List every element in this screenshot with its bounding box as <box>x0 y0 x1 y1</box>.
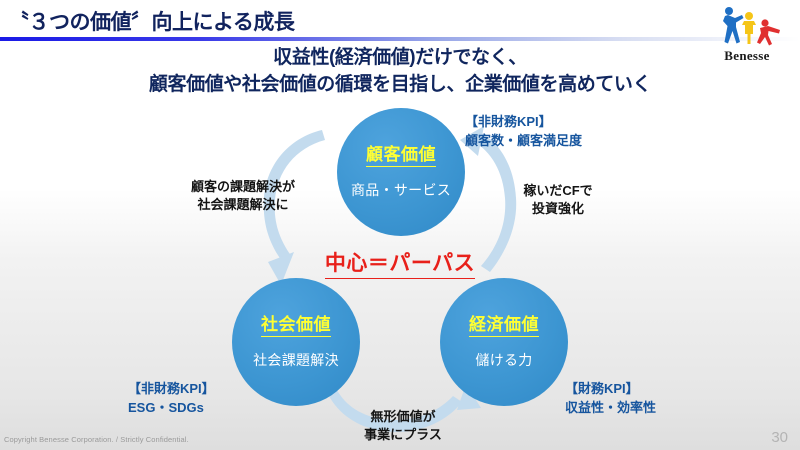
kpi-economic-value: 【財務KPI】 収益性・効率性 <box>565 379 745 417</box>
circle-economic-value[interactable]: 経済価値 儲ける力 <box>440 278 568 406</box>
center-purpose-block: 中心＝パーパス <box>0 247 800 279</box>
page-number: 30 <box>771 429 788 446</box>
circle-social-value-title: 社会価値 <box>261 315 331 337</box>
circle-customer-value-title: 顧客価値 <box>366 145 436 167</box>
annotation-social-to-economic-line-1: 無形価値が <box>338 408 468 426</box>
kpi-economic-value-header: 【財務KPI】 <box>565 379 745 398</box>
kpi-social-value-header: 【非財務KPI】 <box>128 379 298 398</box>
annotation-economic-to-customer-line-2: 投資強化 <box>498 200 618 218</box>
annotation-customer-to-social-line-2: 社会課題解決に <box>168 196 318 214</box>
kpi-social-value-body: ESG・SDGs <box>128 398 298 417</box>
circle-social-value-subtitle: 社会課題解決 <box>253 350 339 370</box>
annotation-economic-to-customer: 稼いだCFで 投資強化 <box>498 182 618 218</box>
kpi-economic-value-body: 収益性・効率性 <box>565 398 745 417</box>
annotation-social-to-economic-line-2: 事業にプラス <box>338 426 468 444</box>
kpi-social-value: 【非財務KPI】 ESG・SDGs <box>128 379 298 417</box>
annotation-customer-to-social-line-1: 顧客の課題解決が <box>168 178 318 196</box>
annotation-economic-to-customer-line-1: 稼いだCFで <box>498 182 618 200</box>
annotation-social-to-economic: 無形価値が 事業にプラス <box>338 408 468 444</box>
circle-customer-value[interactable]: 顧客価値 商品・サービス <box>337 108 465 236</box>
kpi-customer-value-body: 顧客数・顧客満足度 <box>465 131 645 150</box>
annotation-customer-to-social: 顧客の課題解決が 社会課題解決に <box>168 178 318 214</box>
slide-canvas: 〝３つの価値〞向上による成長 Benesse 収益性(経済価値)だけでなく、 <box>0 0 800 450</box>
circle-economic-value-title: 経済価値 <box>469 315 539 337</box>
center-purpose-label: 中心＝パーパス <box>325 247 475 279</box>
circle-customer-value-subtitle: 商品・サービス <box>351 180 451 200</box>
circle-economic-value-subtitle: 儲ける力 <box>475 350 532 370</box>
kpi-customer-value: 【非財務KPI】 顧客数・顧客満足度 <box>465 112 645 150</box>
copyright-notice: Copyright Benesse Corporation. / Strictl… <box>4 435 189 444</box>
kpi-customer-value-header: 【非財務KPI】 <box>465 112 645 131</box>
value-cycle-diagram: 顧客価値 商品・サービス 社会価値 社会課題解決 経済価値 儲ける力 中心＝パー… <box>0 0 800 450</box>
